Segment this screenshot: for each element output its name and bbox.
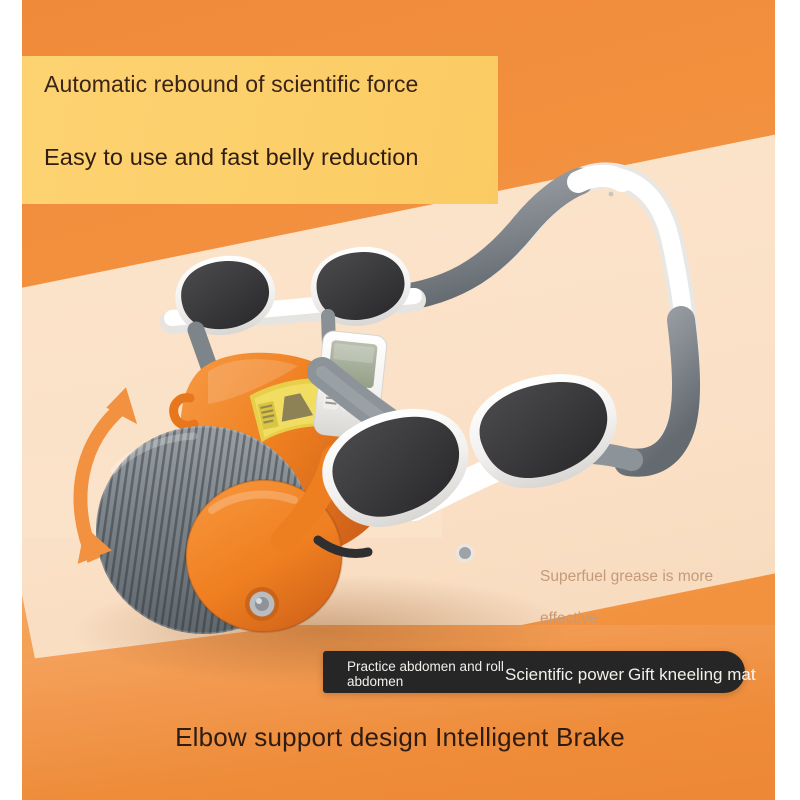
handlebar-grip-right	[628, 320, 686, 463]
feature-item-3: Gift kneeling mat	[628, 662, 778, 687]
feature-item-1: Practice abdomen and roll abdomen	[347, 659, 507, 689]
headline-primary: Automatic rebound of scientific force	[44, 70, 474, 98]
side-copy-line1: Superfuel grease is more	[540, 556, 790, 598]
feature-item-2: Scientific power	[505, 662, 625, 687]
product-banner: Automatic rebound of scientific force Ea…	[0, 0, 800, 800]
frame-right-margin	[775, 0, 800, 800]
side-copy: Superfuel grease is more effective	[540, 556, 790, 640]
headline-box: Automatic rebound of scientific force Ea…	[22, 56, 498, 204]
feature-bar: Practice abdomen and roll abdomen Scient…	[323, 651, 745, 693]
frame-left-margin	[0, 0, 22, 800]
side-copy-line2: effective	[540, 598, 790, 640]
bottom-headline: Elbow support design Intelligent Brake	[0, 722, 800, 753]
headline-secondary: Easy to use and fast belly reduction	[44, 143, 494, 171]
